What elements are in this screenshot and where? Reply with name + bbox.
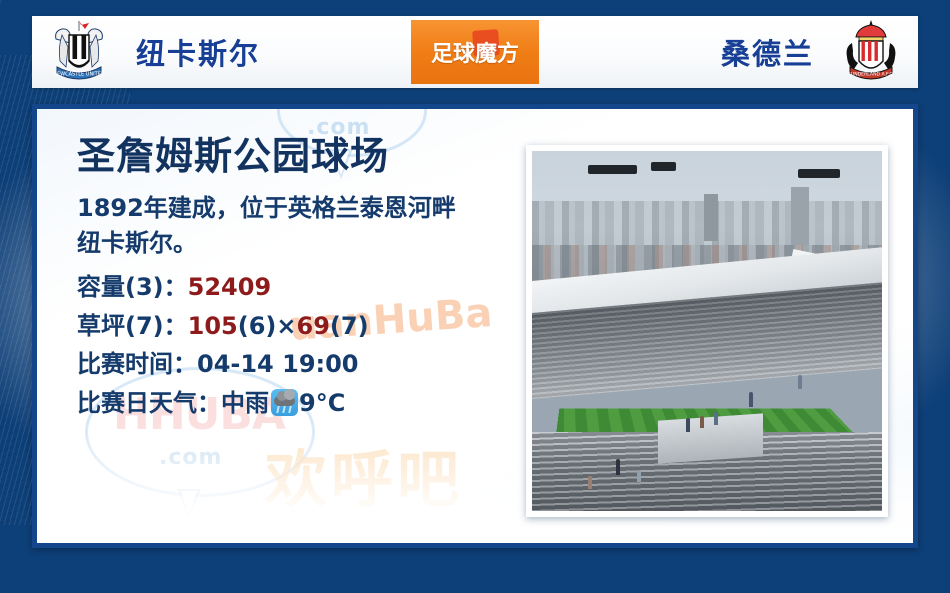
photo-tower-left — [704, 194, 718, 241]
watermark-left-subtext: .com — [159, 445, 222, 470]
photo-floodlight-3 — [798, 169, 840, 178]
weather-condition: 中雨 — [221, 384, 269, 422]
newcastle-united-crest: NEWCASTLE UNITED — [48, 17, 110, 87]
match-header-bar: NEWCASTLE UNITED 纽卡斯尔 足球魔方 桑德兰 SUNDERLAN… — [32, 16, 918, 88]
away-team-block[interactable]: 桑德兰 SUNDERLAND A.F.C. — [539, 16, 918, 88]
photo-floodlight-1 — [588, 165, 637, 174]
photo-spectator — [714, 412, 718, 425]
away-team-name: 桑德兰 — [721, 31, 814, 73]
kickoff-value: 04-14 19:00 — [197, 345, 359, 383]
stat-row-capacity: 容量(3)： 52409 — [77, 268, 507, 306]
photo-spectator — [700, 416, 704, 428]
stat-row-pitch: 草坪(7)： 105 (6) × 69 (7) — [77, 307, 507, 345]
stadium-info-column: 圣詹姆斯公园球场 1892年建成，位于英格兰泰恩河畔纽卡斯尔。 容量(3)： 5… — [77, 137, 507, 422]
pitch-width: 69 — [297, 307, 330, 345]
rain-cloud-icon — [271, 389, 298, 416]
kickoff-label: 比赛时间： — [77, 345, 197, 383]
stadium-photo: NEWCASTLE UNITED — [532, 151, 882, 511]
photo-spectator — [749, 392, 753, 407]
weather-label: 比赛日天气： — [77, 384, 221, 422]
capacity-value: 52409 — [188, 268, 272, 306]
pitch-dimension-separator: × — [276, 307, 296, 345]
stadium-info-panel: .com HHUBA .com uanHuBa 欢呼吧 圣詹姆斯公园球场 189… — [32, 104, 918, 548]
photo-spectator — [616, 459, 620, 475]
stadium-photo-frame: NEWCASTLE UNITED — [526, 145, 888, 517]
photo-floodlight-2 — [651, 162, 676, 171]
photo-spectator — [637, 470, 641, 482]
site-logo[interactable]: 足球魔方 — [411, 20, 539, 84]
capacity-label: 容量(3)： — [77, 268, 188, 306]
home-team-block[interactable]: NEWCASTLE UNITED 纽卡斯尔 — [32, 16, 411, 88]
stat-row-weather: 比赛日天气： 中雨 9°C — [77, 384, 507, 422]
weather-temperature: 9°C — [299, 384, 345, 422]
pitch-length-rank: (6) — [238, 307, 277, 345]
site-logo-text: 足球魔方 — [431, 36, 519, 68]
pitch-label: 草坪(7)： — [77, 307, 188, 345]
photo-spectator — [798, 375, 802, 389]
photo-tower-right — [791, 187, 809, 245]
photo-spectator — [686, 418, 690, 432]
stadium-title: 圣詹姆斯公园球场 — [77, 137, 507, 177]
svg-text:NEWCASTLE UNITED: NEWCASTLE UNITED — [53, 72, 105, 78]
home-team-name: 纽卡斯尔 — [136, 31, 260, 73]
photo-spectator — [588, 476, 592, 489]
pitch-width-rank: (7) — [330, 307, 369, 345]
pitch-length: 105 — [188, 307, 238, 345]
stat-row-kickoff: 比赛时间： 04-14 19:00 — [77, 345, 507, 383]
svg-text:SUNDERLAND A.F.C.: SUNDERLAND A.F.C. — [848, 72, 894, 78]
sunderland-afc-crest: SUNDERLAND A.F.C. — [840, 17, 902, 87]
photo-terrace-walkway — [658, 414, 763, 465]
stadium-description: 1892年建成，位于英格兰泰恩河畔纽卡斯尔。 — [77, 191, 477, 261]
watermark-right-text: 欢呼吧 — [265, 429, 463, 519]
